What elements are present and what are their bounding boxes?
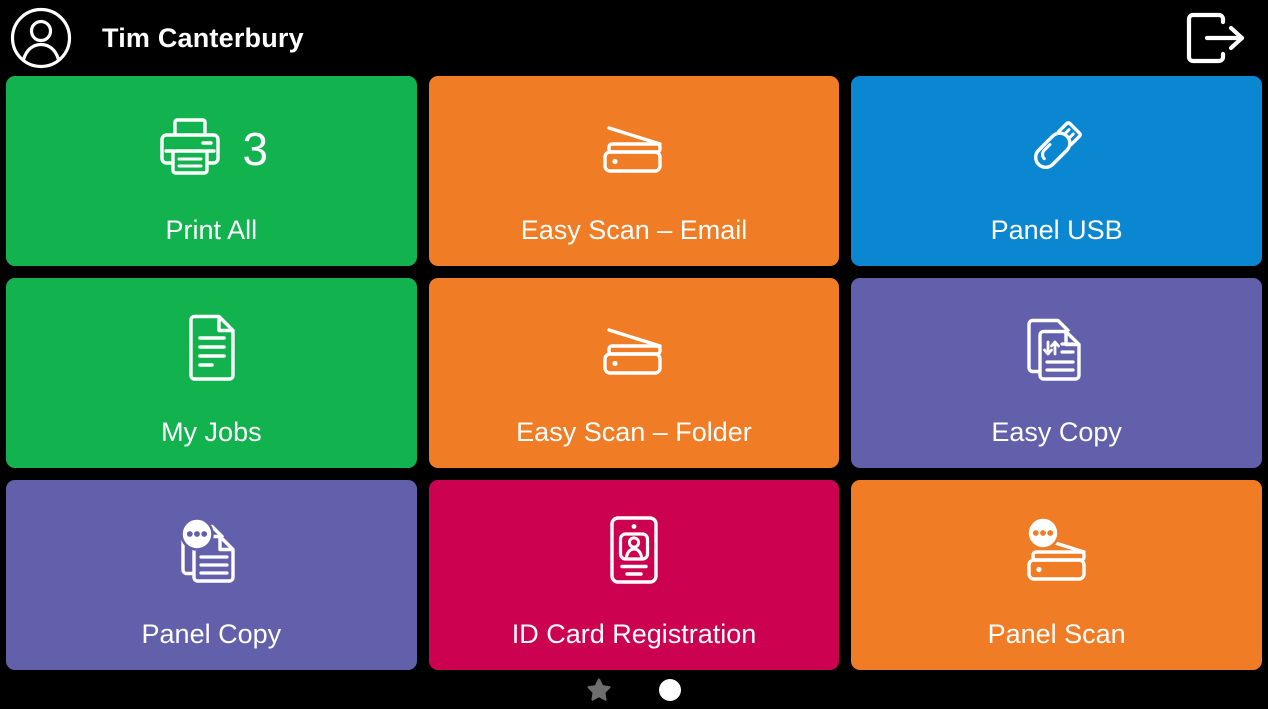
print-all-count-badge: 3 (243, 126, 269, 172)
tile-icon-row (429, 278, 840, 419)
tile-label: Print All (6, 217, 417, 266)
tile-id-card-registration[interactable]: ID Card Registration (429, 480, 840, 670)
tile-label: Panel Copy (6, 621, 417, 670)
tile-print-all[interactable]: 3 Print All (6, 76, 417, 266)
home-screen: Tim Canterbury (0, 0, 1268, 709)
tile-icon-row (429, 76, 840, 217)
document-icon (179, 312, 243, 389)
id-card-icon (603, 513, 665, 592)
tile-icon-row (6, 480, 417, 621)
favorites-page-indicator[interactable] (587, 678, 611, 702)
logout-button[interactable] (1180, 10, 1250, 66)
copy-docs-icon (1022, 312, 1092, 389)
user-name-label: Tim Canterbury (102, 23, 304, 54)
tile-icon-row (851, 278, 1262, 419)
tile-panel-scan[interactable]: Panel Scan (851, 480, 1262, 670)
tile-label: Panel USB (851, 217, 1262, 266)
panel-copy-icon (174, 514, 248, 591)
printer-icon (155, 111, 225, 186)
tile-icon-row: 3 (6, 76, 417, 217)
tile-easy-scan-email[interactable]: Easy Scan – Email (429, 76, 840, 266)
panel-scan-icon (1019, 514, 1095, 591)
tile-icon-row (851, 480, 1262, 621)
tile-icon-row (6, 278, 417, 419)
scanner-icon (598, 313, 670, 388)
tile-icon-row (429, 480, 840, 621)
usb-drive-icon (1021, 110, 1093, 187)
tile-label: Easy Copy (851, 419, 1262, 468)
tile-label: ID Card Registration (429, 621, 840, 670)
tile-label: Easy Scan – Email (429, 217, 840, 266)
scanner-icon (598, 111, 670, 186)
tile-label: Panel Scan (851, 621, 1262, 670)
tile-label: Easy Scan – Folder (429, 419, 840, 468)
tile-icon-row (851, 76, 1262, 217)
tile-label: My Jobs (6, 419, 417, 468)
tile-grid: 3 Print All Easy Scan – Email (0, 76, 1268, 670)
home-page-indicator[interactable] (659, 679, 681, 701)
tile-easy-copy[interactable]: Easy Copy (851, 278, 1262, 468)
tile-panel-usb[interactable]: Panel USB (851, 76, 1262, 266)
page-indicator-bar (0, 670, 1268, 709)
header-bar: Tim Canterbury (0, 0, 1268, 76)
tile-my-jobs[interactable]: My Jobs (6, 278, 417, 468)
user-avatar-icon (10, 7, 72, 69)
tile-easy-scan-folder[interactable]: Easy Scan – Folder (429, 278, 840, 468)
tile-panel-copy[interactable]: Panel Copy (6, 480, 417, 670)
logout-icon (1182, 11, 1248, 65)
